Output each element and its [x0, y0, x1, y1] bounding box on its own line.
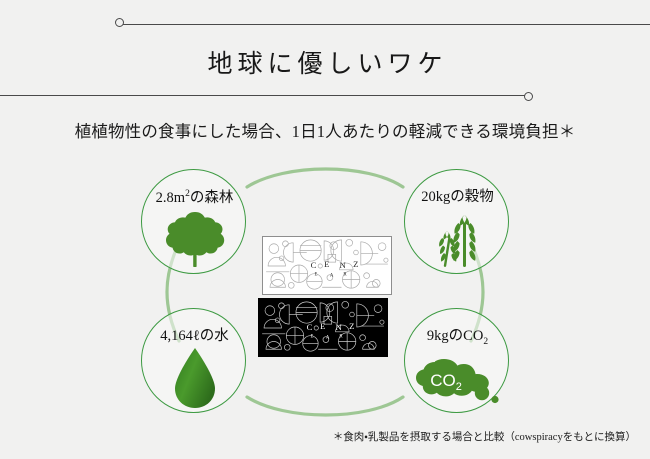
- slide-canvas: 地球に優しいワケ 植植物性の食事にした場合、1日1人あたりの軽減できる環境負担＊…: [0, 0, 650, 459]
- subtitle: 植植物性の食事にした場合、1日1人あたりの軽減できる環境負担＊: [0, 118, 650, 142]
- node-co2[interactable]: 9kgのCO2 CO2: [404, 308, 509, 413]
- svg-text:E: E: [310, 335, 313, 340]
- node-forest[interactable]: 2.8m2の森林: [141, 169, 246, 274]
- node-water[interactable]: 4,164ℓの水: [141, 308, 246, 413]
- title-dot-bottom-icon: [524, 92, 533, 101]
- svg-text:R: R: [343, 273, 347, 278]
- node-water-label: 4,164ℓの水: [126, 329, 263, 344]
- svg-text:A: A: [330, 274, 334, 279]
- svg-text:A: A: [326, 336, 330, 341]
- footnote: ＊食肉・乳製品を摂取する場合と比較（cowspiracyをもとに換算）: [0, 429, 636, 444]
- svg-text:N: N: [340, 260, 347, 270]
- title-rule-bottom: [0, 95, 530, 96]
- page-title: 地球に優しいワケ: [0, 44, 650, 80]
- title-rule-top: [118, 24, 650, 25]
- cenz-pattern-dark-icon: C E N Z E A R: [259, 299, 387, 356]
- svg-text:E: E: [314, 273, 317, 278]
- svg-text:C: C: [311, 260, 317, 270]
- node-co2-label: 9kgのCO2: [389, 329, 526, 347]
- tree-icon: [142, 208, 247, 270]
- node-forest-label: 2.8m2の森林: [126, 190, 263, 205]
- title-dot-top-icon: [115, 18, 124, 27]
- co2-cloud-icon: CO2: [405, 347, 510, 409]
- cenz-pattern-light-icon: C E N Z E A R: [263, 237, 391, 294]
- svg-text:N: N: [336, 322, 343, 332]
- svg-text:E: E: [324, 259, 329, 269]
- node-grain[interactable]: 20kgの穀物: [404, 169, 509, 274]
- svg-text:Z: Z: [349, 321, 354, 331]
- wheat-icon: [405, 208, 510, 270]
- svg-text:E: E: [320, 321, 325, 331]
- water-drop-icon: [142, 347, 247, 409]
- svg-text:C: C: [307, 322, 313, 332]
- node-grain-label: 20kgの穀物: [389, 190, 526, 205]
- cenz-logo-light-panel: C E N Z E A R: [262, 236, 392, 295]
- svg-text:Z: Z: [353, 259, 358, 269]
- cenz-logo-dark-panel: C E N Z E A R: [258, 298, 388, 357]
